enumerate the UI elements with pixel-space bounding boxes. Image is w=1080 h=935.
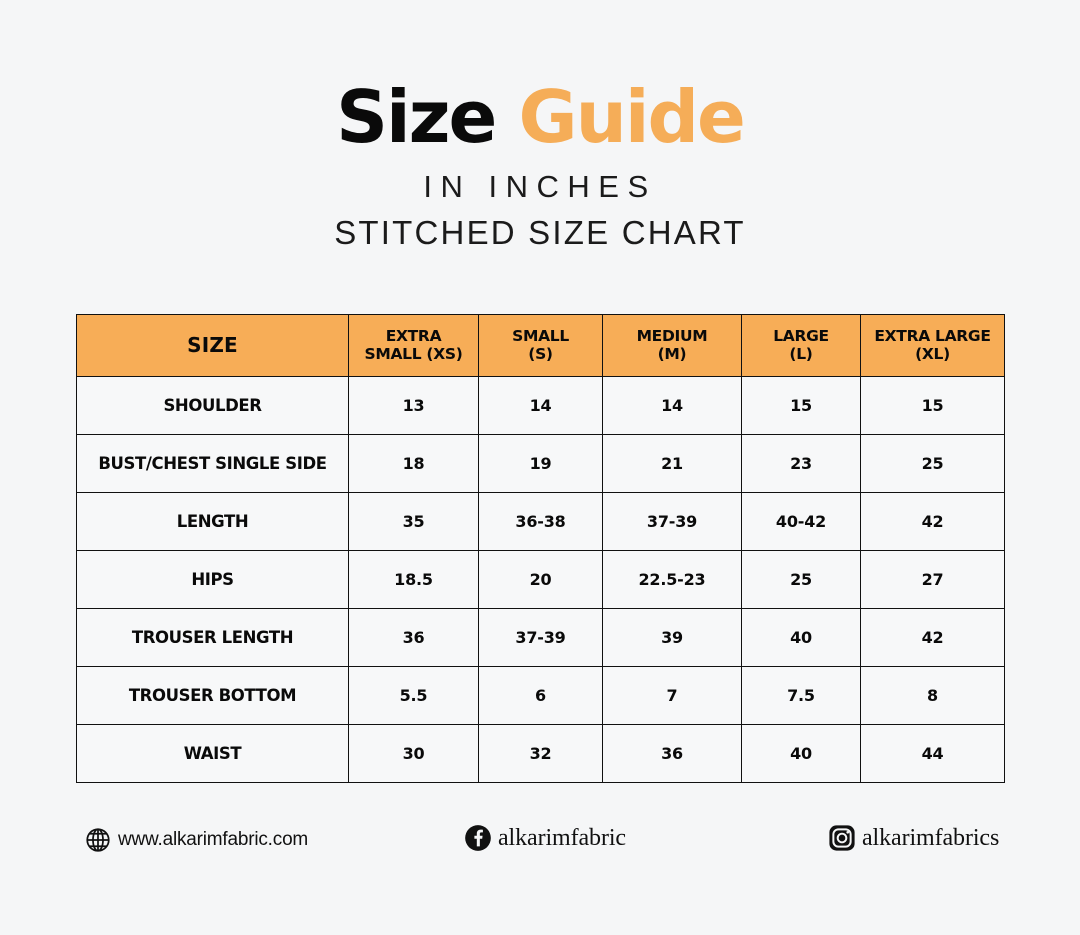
cell-trouser-bottom-xs: 5.5 (349, 667, 479, 725)
cell-trouser-length-xs: 36 (349, 609, 479, 667)
cell-shoulder-m: 14 (603, 377, 742, 435)
column-header-xs: EXTRA SMALL (XS) (349, 315, 479, 377)
row-label-shoulder: SHOULDER (77, 377, 349, 435)
subtitle-chart-type: STITCHED SIZE CHART (0, 214, 1080, 252)
column-header-m: MEDIUM (M) (603, 315, 742, 377)
page-title: Size Guide (0, 82, 1080, 153)
subtitle-units: IN INCHES (0, 169, 1080, 205)
row-label-trouser-bottom: TROUSER BOTTOM (77, 667, 349, 725)
column-header-l: LARGE (L) (742, 315, 861, 377)
cell-hips-m: 22.5-23 (603, 551, 742, 609)
column-header-size: SIZE (77, 315, 349, 377)
column-header-s: SMALL (S) (479, 315, 603, 377)
cell-waist-m: 36 (603, 725, 742, 783)
cell-waist-xl: 44 (861, 725, 1005, 783)
cell-trouser-length-xl: 42 (861, 609, 1005, 667)
table-row: HIPS 18.5 20 22.5-23 25 27 (77, 551, 1005, 609)
row-label-waist: WAIST (77, 725, 349, 783)
table-row: LENGTH 35 36-38 37-39 40-42 42 (77, 493, 1005, 551)
table-header-row: SIZE EXTRA SMALL (XS) SMALL (S) MEDIUM (… (77, 315, 1005, 377)
column-header-xl: EXTRA LARGE (XL) (861, 315, 1005, 377)
table-row: WAIST 30 32 36 40 44 (77, 725, 1005, 783)
table-row: TROUSER LENGTH 36 37-39 39 40 42 (77, 609, 1005, 667)
cell-hips-l: 25 (742, 551, 861, 609)
cell-shoulder-s: 14 (479, 377, 603, 435)
cell-length-xs: 35 (349, 493, 479, 551)
table-row: SHOULDER 13 14 14 15 15 (77, 377, 1005, 435)
cell-shoulder-xs: 13 (349, 377, 479, 435)
instagram-icon (828, 824, 856, 852)
cell-length-l: 40-42 (742, 493, 861, 551)
cell-trouser-length-m: 39 (603, 609, 742, 667)
table-row: TROUSER BOTTOM 5.5 6 7 7.5 8 (77, 667, 1005, 725)
facebook-icon (464, 824, 492, 852)
row-label-trouser-length: TROUSER LENGTH (77, 609, 349, 667)
row-label-length: LENGTH (77, 493, 349, 551)
cell-trouser-bottom-xl: 8 (861, 667, 1005, 725)
cell-trouser-length-l: 40 (742, 609, 861, 667)
cell-bust-s: 19 (479, 435, 603, 493)
cell-bust-m: 21 (603, 435, 742, 493)
cell-trouser-length-s: 37-39 (479, 609, 603, 667)
instagram-link[interactable]: alkarimfabrics (828, 824, 999, 852)
size-chart-table: SIZE EXTRA SMALL (XS) SMALL (S) MEDIUM (… (76, 314, 1005, 783)
cell-shoulder-xl: 15 (861, 377, 1005, 435)
cell-hips-s: 20 (479, 551, 603, 609)
facebook-label: alkarimfabric (498, 825, 626, 852)
website-link[interactable]: www.alkarimfabric.com (84, 826, 308, 854)
cell-bust-xs: 18 (349, 435, 479, 493)
website-label: www.alkarimfabric.com (118, 829, 308, 851)
row-label-hips: HIPS (77, 551, 349, 609)
cell-trouser-bottom-m: 7 (603, 667, 742, 725)
cell-waist-s: 32 (479, 725, 603, 783)
cell-bust-xl: 25 (861, 435, 1005, 493)
instagram-label: alkarimfabrics (862, 825, 999, 852)
cell-length-s: 36-38 (479, 493, 603, 551)
cell-hips-xs: 18.5 (349, 551, 479, 609)
globe-icon (84, 826, 112, 854)
cell-shoulder-l: 15 (742, 377, 861, 435)
cell-trouser-bottom-s: 6 (479, 667, 603, 725)
cell-hips-xl: 27 (861, 551, 1005, 609)
table-row: BUST/CHEST SINGLE SIDE 18 19 21 23 25 (77, 435, 1005, 493)
cell-bust-l: 23 (742, 435, 861, 493)
title-part-dark: Size (336, 75, 495, 159)
row-label-bust-chest: BUST/CHEST SINGLE SIDE (77, 435, 349, 493)
cell-waist-l: 40 (742, 725, 861, 783)
table-header: SIZE EXTRA SMALL (XS) SMALL (S) MEDIUM (… (77, 315, 1005, 377)
table-body: SHOULDER 13 14 14 15 15 BUST/CHEST SINGL… (77, 377, 1005, 783)
title-block: Size Guide IN INCHES STITCHED SIZE CHART (0, 82, 1080, 252)
size-guide-page: Size Guide IN INCHES STITCHED SIZE CHART… (0, 0, 1080, 935)
facebook-link[interactable]: alkarimfabric (464, 824, 626, 852)
footer: www.alkarimfabric.com alkarimfabric (76, 820, 1004, 870)
title-part-accent: Guide (495, 75, 743, 159)
cell-trouser-bottom-l: 7.5 (742, 667, 861, 725)
cell-waist-xs: 30 (349, 725, 479, 783)
cell-length-xl: 42 (861, 493, 1005, 551)
cell-length-m: 37-39 (603, 493, 742, 551)
